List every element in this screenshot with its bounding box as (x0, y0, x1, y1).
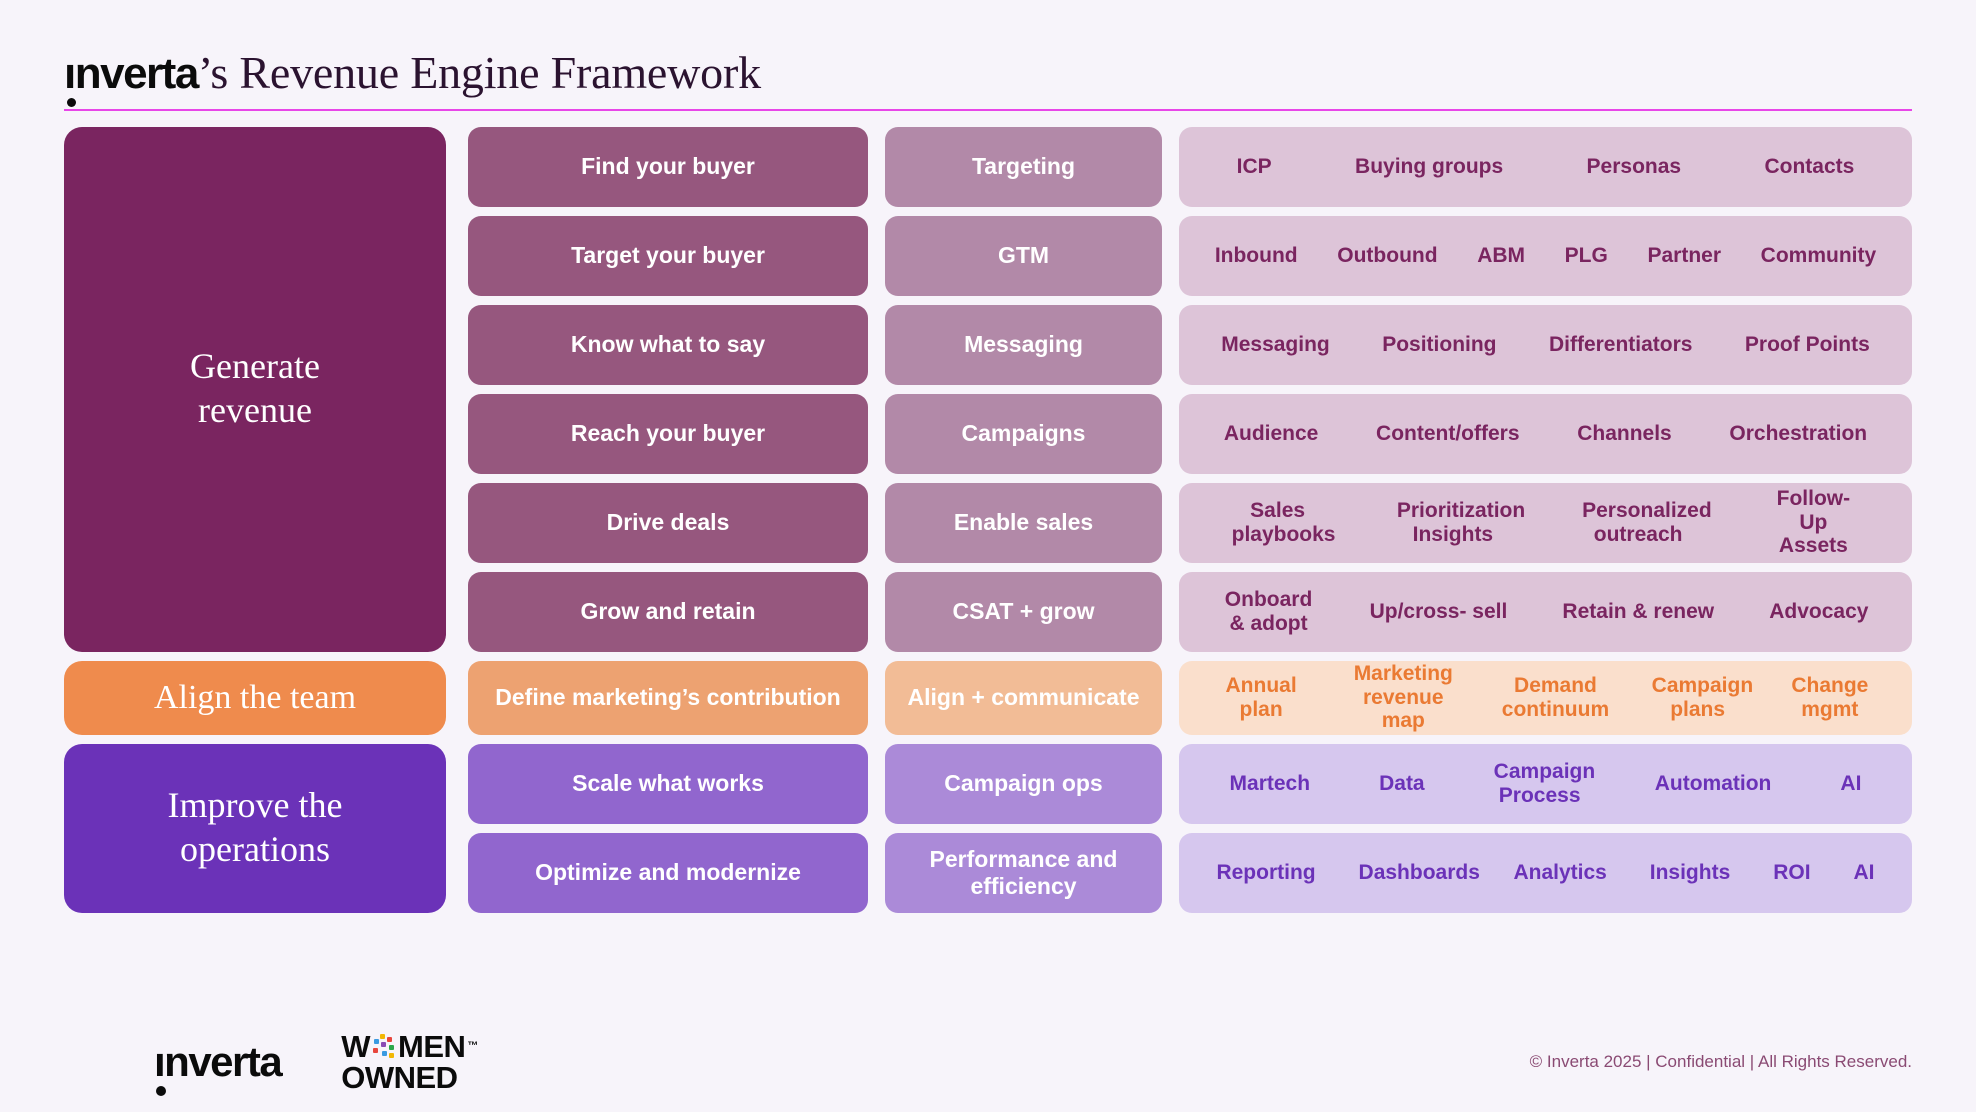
function-cell[interactable]: Align + communicate (885, 661, 1162, 735)
band-generate-revenue: Generaterevenue Find your buyer Targetin… (64, 127, 1912, 652)
outcome-cell[interactable]: Know what to say (468, 305, 868, 385)
tag-item: ABM (1477, 244, 1525, 268)
function-cell[interactable]: Messaging (885, 305, 1162, 385)
outcome-cell[interactable]: Drive deals (468, 483, 868, 563)
tag-item: AI (1840, 772, 1861, 796)
function-cell[interactable]: CSAT + grow (885, 572, 1162, 652)
tag-item: Partner (1647, 244, 1721, 268)
table-row: Drive deals Enable sales Sales playbooks… (468, 483, 1912, 563)
tag-item: Reporting (1216, 861, 1315, 885)
pillar-cell-generate-revenue[interactable]: Generaterevenue (64, 127, 468, 652)
outcome-cell[interactable]: Scale what works (468, 744, 868, 824)
tag-item: Channels (1577, 422, 1672, 446)
outcome-cell[interactable]: Optimize and modernize (468, 833, 868, 913)
table-row: Define marketing’s contribution Align + … (468, 661, 1912, 735)
band-improve-the-operations: Improve theoperations Scale what works C… (64, 744, 1912, 913)
confetti-icon (371, 1034, 397, 1060)
tags-cell[interactable]: Onboard & adopt Up/cross- sell Retain & … (1179, 572, 1912, 652)
tag-item: Analytics (1513, 861, 1606, 885)
tag-item: Up/cross- sell (1370, 600, 1508, 624)
tag-item: Audience (1224, 422, 1319, 446)
footer-logos: ınverta W MEN™ OWNED (64, 1031, 478, 1093)
trademark-symbol: ™ (467, 1041, 478, 1052)
tag-item: Marketing revenue map (1347, 662, 1459, 733)
pillar-label-generate-revenue: Generaterevenue (64, 127, 446, 652)
copyright-text: © Inverta 2025 | Confidential | All Righ… (1530, 1052, 1912, 1072)
tag-item: Campaign plans (1652, 674, 1744, 721)
pillar-label-align-the-team: Align the team (64, 661, 446, 735)
slide-root: ınverta’s Revenue Engine Framework Gener… (0, 0, 1976, 1112)
tag-item: Positioning (1382, 333, 1496, 357)
tag-item: Martech (1230, 772, 1311, 796)
tags-cell[interactable]: Martech Data Campaign Process Automation… (1179, 744, 1912, 824)
function-cell[interactable]: Performance and efficiency (885, 833, 1162, 913)
tag-item: Contacts (1764, 155, 1854, 179)
function-cell[interactable]: Targeting (885, 127, 1162, 207)
tags-cell[interactable]: Inbound Outbound ABM PLG Partner Communi… (1179, 216, 1912, 296)
rows-align-the-team: Define marketing’s contribution Align + … (468, 661, 1912, 735)
tag-item: Retain & renew (1562, 600, 1714, 624)
table-row: Scale what works Campaign ops Martech Da… (468, 744, 1912, 824)
tag-item: Prioritization Insights (1397, 499, 1509, 546)
women-owned-w: W (341, 1031, 370, 1062)
function-cell[interactable]: GTM (885, 216, 1162, 296)
pillar-cell-improve-the-operations[interactable]: Improve theoperations (64, 744, 468, 913)
tag-item: Dashboards (1359, 861, 1471, 885)
tag-item: ICP (1237, 155, 1272, 179)
tag-item: Follow-Up Assets (1767, 487, 1859, 558)
tag-item: Differentiators (1549, 333, 1693, 357)
table-row: Target your buyer GTM Inbound Outbound A… (468, 216, 1912, 296)
outcome-cell[interactable]: Find your buyer (468, 127, 868, 207)
slide-header: ınverta’s Revenue Engine Framework (40, 0, 1936, 99)
women-owned-logo: W MEN™ OWNED (341, 1031, 478, 1093)
tag-item: Automation (1655, 772, 1772, 796)
tag-item: Outbound (1337, 244, 1437, 268)
tag-item: AI (1853, 861, 1874, 885)
tag-item: Change mgmt (1784, 674, 1876, 721)
pillar-cell-align-the-team[interactable]: Align the team (64, 661, 468, 735)
band-align-the-team: Align the team Define marketing’s contri… (64, 661, 1912, 735)
table-row: Find your buyer Targeting ICP Buying gro… (468, 127, 1912, 207)
tags-cell[interactable]: Sales playbooks Prioritization Insights … (1179, 483, 1912, 563)
outcome-cell[interactable]: Define marketing’s contribution (468, 661, 868, 735)
page-title-suffix: ’s Revenue Engine Framework (198, 47, 761, 98)
tag-item: ROI (1773, 861, 1810, 885)
tag-item: Inbound (1215, 244, 1298, 268)
tag-item: Community (1761, 244, 1877, 268)
tag-item: Annual plan (1215, 674, 1307, 721)
table-row: Reach your buyer Campaigns Audience Cont… (468, 394, 1912, 474)
tag-item: PLG (1565, 244, 1608, 268)
rows-improve-the-operations: Scale what works Campaign ops Martech Da… (468, 744, 1912, 913)
tags-cell[interactable]: Messaging Positioning Differentiators Pr… (1179, 305, 1912, 385)
header-divider (64, 109, 1912, 111)
tag-item: Content/offers (1376, 422, 1520, 446)
tag-item: Advocacy (1769, 600, 1868, 624)
tag-item: Proof Points (1745, 333, 1870, 357)
tag-item: Personas (1587, 155, 1682, 179)
tag-item: Personalized outreach (1582, 499, 1694, 546)
tag-item: Onboard & adopt (1223, 588, 1315, 635)
inverta-logo: ınverta (154, 1038, 281, 1086)
tag-item: Messaging (1221, 333, 1330, 357)
function-cell[interactable]: Campaign ops (885, 744, 1162, 824)
tag-item: Demand continuum (1499, 674, 1611, 721)
tag-item: Insights (1650, 861, 1731, 885)
table-row: Know what to say Messaging Messaging Pos… (468, 305, 1912, 385)
tag-item: Sales playbooks (1232, 499, 1324, 546)
function-cell[interactable]: Enable sales (885, 483, 1162, 563)
tags-cell[interactable]: Annual plan Marketing revenue map Demand… (1179, 661, 1912, 735)
framework-grid: Generaterevenue Find your buyer Targetin… (64, 127, 1912, 913)
tags-cell[interactable]: Reporting Dashboards Analytics Insights … (1179, 833, 1912, 913)
rows-generate-revenue: Find your buyer Targeting ICP Buying gro… (468, 127, 1912, 652)
tag-item: Buying groups (1355, 155, 1503, 179)
function-cell[interactable]: Campaigns (885, 394, 1162, 474)
outcome-cell[interactable]: Target your buyer (468, 216, 868, 296)
tag-item: Orchestration (1729, 422, 1867, 446)
slide-footer: ınverta W MEN™ OWNED (0, 1012, 1976, 1112)
women-owned-line2: OWNED (341, 1062, 478, 1093)
inverta-wordmark: ınverta (64, 50, 198, 98)
page-title: ınverta’s Revenue Engine Framework (64, 48, 1916, 99)
tag-item: Data (1379, 772, 1425, 796)
table-row: Optimize and modernize Performance and e… (468, 833, 1912, 913)
tags-cell[interactable]: Audience Content/offers Channels Orchest… (1179, 394, 1912, 474)
outcome-cell[interactable]: Reach your buyer (468, 394, 868, 474)
tags-cell[interactable]: ICP Buying groups Personas Contacts (1179, 127, 1912, 207)
table-row: Grow and retain CSAT + grow Onboard & ad… (468, 572, 1912, 652)
women-owned-men: MEN (398, 1031, 465, 1062)
tag-item: Campaign Process (1494, 760, 1586, 807)
pillar-label-improve-the-operations: Improve theoperations (64, 744, 446, 913)
outcome-cell[interactable]: Grow and retain (468, 572, 868, 652)
